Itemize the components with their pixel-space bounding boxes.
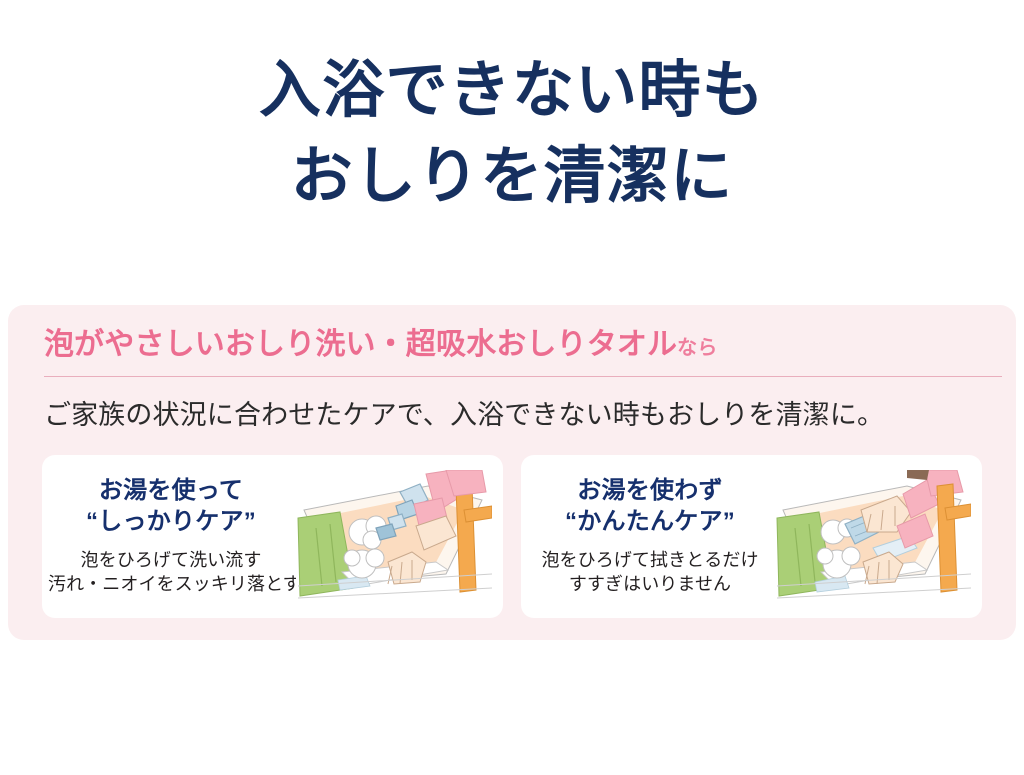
care-card-heading: お湯を使って “しっかりケア”: [48, 476, 294, 536]
care-card-heading-line-2: “かんたんケア”: [527, 507, 773, 537]
page-title-line-1: 入浴できない時も: [0, 48, 1024, 134]
care-card-heading-line-1: お湯を使わず: [527, 476, 773, 506]
care-card-text-block: お湯を使って “しっかりケア” 泡をひろげて洗い流す 汚れ・ニオイをスッキリ落と…: [42, 476, 294, 596]
care-card-body-line-2: 汚れ・ニオイをスッキリ落とす: [48, 572, 294, 596]
care-card-body-line-1: 泡をひろげて拭きとるだけ: [527, 548, 773, 572]
caregiver-wiping-with-towel-icon: [775, 470, 971, 604]
care-card-body: 泡をひろげて洗い流す 汚れ・ニオイをスッキリ落とす: [48, 548, 294, 597]
care-card-heading-line-1: お湯を使って: [48, 476, 294, 506]
panel-lead-text: ご家族の状況に合わせたケアで、入浴できない時もおしりを清潔に。: [44, 399, 884, 431]
care-card-body: 泡をひろげて拭きとるだけ すすぎはいりません: [527, 548, 773, 597]
care-card-body-line-2: すすぎはいりません: [527, 572, 773, 596]
care-card-body-line-1: 泡をひろげて洗い流す: [48, 548, 294, 572]
care-card-no-water: お湯を使わず “かんたんケア” 泡をひろげて拭きとるだけ すすぎはいりません: [521, 455, 982, 618]
panel-heading-suffix: なら: [677, 337, 717, 359]
panel-heading: 泡がやさしいおしり洗い・超吸水おしりタオルなら: [44, 330, 718, 360]
caregiver-washing-with-foam-bottle-icon: [296, 470, 492, 604]
panel-heading-main: 泡がやさしいおしり洗い・超吸水おしりタオル: [44, 328, 677, 361]
care-card-heading: お湯を使わず “かんたんケア”: [527, 476, 773, 536]
page-title-line-2: おしりを清潔に: [0, 134, 1024, 220]
panel-divider: [44, 376, 1002, 377]
care-card-heading-line-2: “しっかりケア”: [48, 507, 294, 537]
product-highlight-panel: 泡がやさしいおしり洗い・超吸水おしりタオルなら ご家族の状況に合わせたケアで、入…: [8, 305, 1016, 640]
page-title: 入浴できない時も おしりを清潔に: [0, 48, 1024, 219]
care-card-text-block: お湯を使わず “かんたんケア” 泡をひろげて拭きとるだけ すすぎはいりません: [521, 476, 773, 596]
care-cards-row: お湯を使って “しっかりケア” 泡をひろげて洗い流す 汚れ・ニオイをスッキリ落と…: [42, 455, 982, 618]
care-card-hot-water: お湯を使って “しっかりケア” 泡をひろげて洗い流す 汚れ・ニオイをスッキリ落と…: [42, 455, 503, 618]
